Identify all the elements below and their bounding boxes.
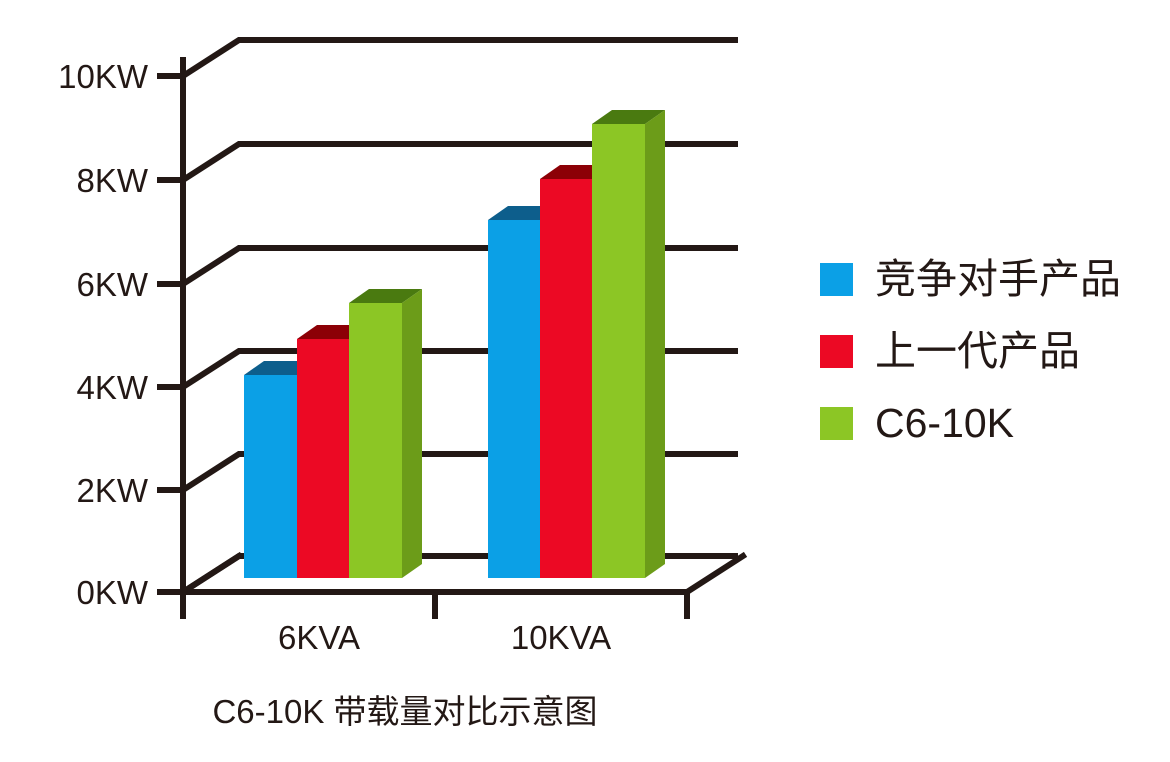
y-axis-label-0kw: 0KW [0, 576, 148, 609]
legend-swatch-blue-icon [820, 263, 853, 296]
y-axis-label-6kw: 6KW [0, 268, 148, 301]
y-axis-label-4kw: 4KW [0, 371, 148, 404]
bar-front-face [488, 220, 540, 578]
y-axis-label-10kw: 10KW [0, 60, 148, 93]
y-axis [160, 60, 183, 616]
legend-item-c6-10k: C6-10K [820, 387, 1121, 459]
chart-legend: 竞争对手产品 上一代产品 C6-10K [820, 243, 1121, 459]
y-axis-label-2kw: 2KW [0, 474, 148, 507]
chart-caption: C6-10K 带载量对比示意图 [0, 695, 810, 728]
bar-10kva-c6-10k [592, 110, 665, 578]
bar-6kva-c6-10k [349, 289, 422, 578]
legend-label-c6-10k: C6-10K [875, 403, 1014, 444]
bar-front-face [244, 375, 297, 578]
legend-item-previous-gen: 上一代产品 [820, 315, 1121, 387]
bar-side-face [645, 110, 665, 578]
x-axis-label-6kva: 6KVA [209, 621, 429, 654]
legend-swatch-red-icon [820, 335, 853, 368]
gridline-10kw [183, 40, 735, 76]
legend-label-competitor: 竞争对手产品 [875, 259, 1121, 300]
bar-front-face [297, 339, 349, 578]
legend-swatch-green-icon [820, 407, 853, 440]
bar-front-face [540, 179, 592, 578]
x-axis-label-10kva: 10KVA [451, 621, 671, 654]
bar-front-face [349, 303, 402, 578]
bar-front-face [592, 124, 645, 578]
bar-side-face [402, 289, 422, 578]
legend-label-previous-gen: 上一代产品 [875, 331, 1080, 372]
x-axis-depth-edge-left [183, 556, 239, 592]
y-axis-label-8kw: 8KW [0, 164, 148, 197]
x-axis-depth-edge [687, 556, 743, 592]
chart-container: 10KW 8KW 6KW 4KW 2KW 0KW 6KVA 10KVA 竞争对手… [0, 0, 1170, 762]
legend-item-competitor: 竞争对手产品 [820, 243, 1121, 315]
